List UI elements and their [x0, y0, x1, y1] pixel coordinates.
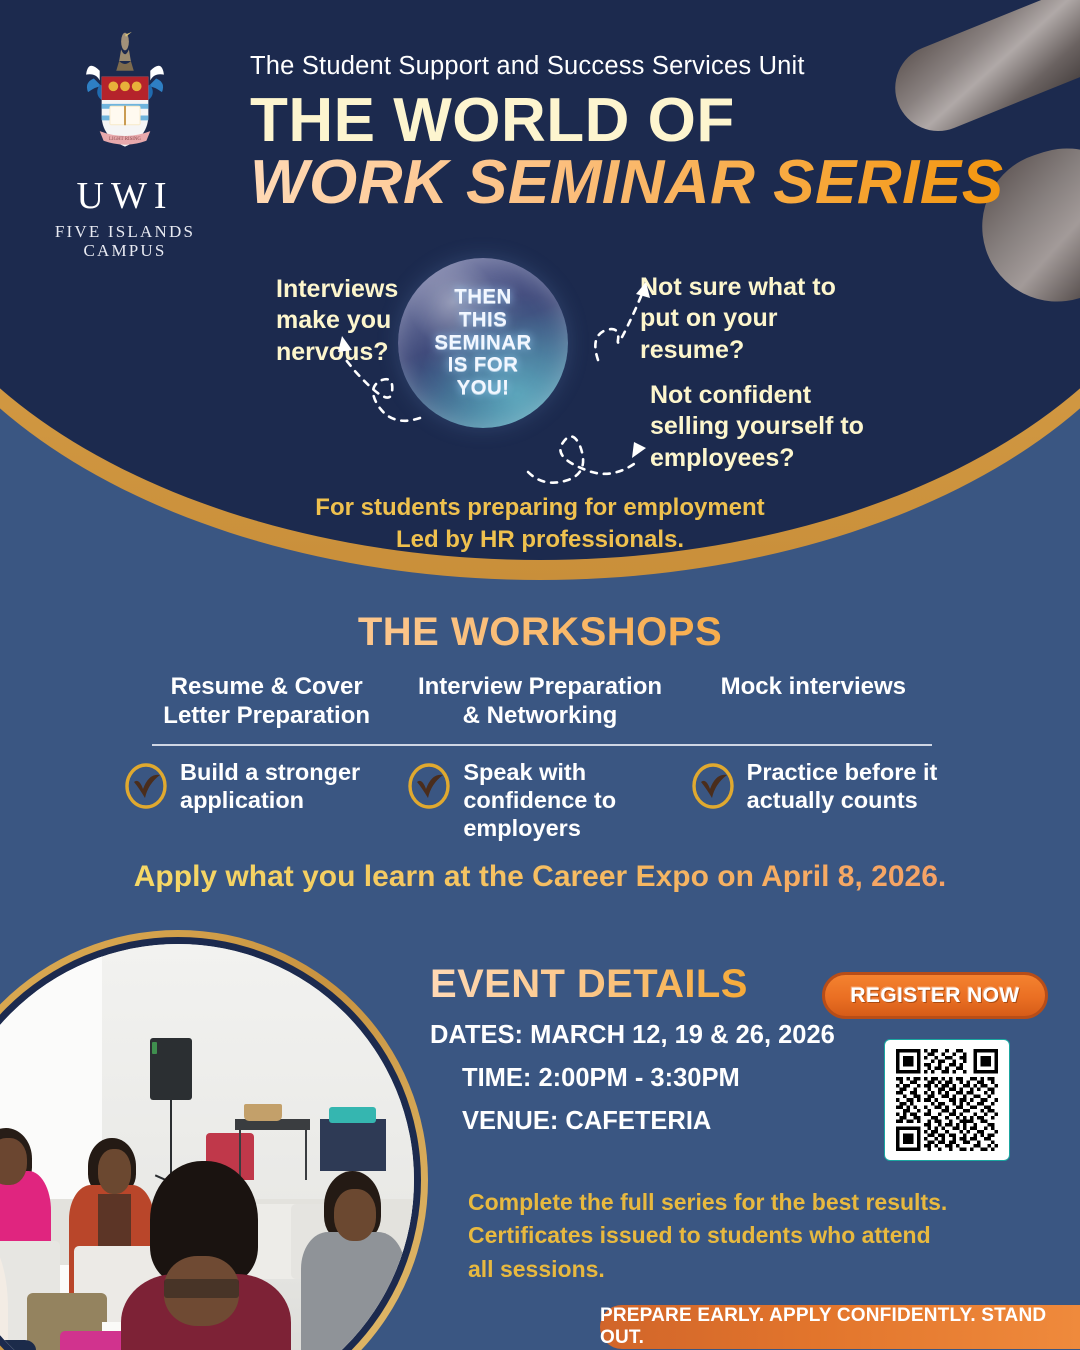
event-details-heading: EVENT DETAILS — [430, 962, 860, 1007]
campus-name: FIVE ISLANDS CAMPUS — [55, 222, 195, 260]
event-time: TIME: 2:00PM - 3:30PM — [430, 1064, 860, 1093]
campus-line-1: FIVE ISLANDS — [55, 222, 195, 241]
questions-zone: Interviews make you nervous? Not sure wh… — [0, 258, 1080, 478]
workshop-benefit-item: Build a stronger application — [122, 758, 405, 843]
seminar-photo-frame — [0, 930, 428, 1350]
workshop-benefit-item: Speak with confidence to employers — [405, 758, 688, 843]
question-resume: Not sure what to put on your resume? — [640, 272, 870, 366]
uwi-acronym: UWI — [77, 174, 174, 218]
dashed-arrow-icon — [522, 386, 662, 486]
svg-text:LIGHT RISING: LIGHT RISING — [109, 137, 141, 142]
certificate-line-2: Certificates issued to students who atte… — [468, 1219, 1028, 1252]
qr-code-icon — [894, 1049, 1000, 1151]
certificate-line-3: all sessions. — [468, 1253, 1028, 1286]
workshops-divider — [152, 744, 932, 746]
poster-root: LIGHT RISING UWI FIVE ISLANDS CAMPUS The… — [0, 0, 1080, 1350]
benefit-text: Practice before it actually counts — [747, 758, 966, 814]
workshop-title: Mock interviews — [677, 672, 950, 731]
workshop-title: Interview Preparation & Networking — [403, 672, 676, 731]
title-block: The Student Support and Success Services… — [250, 0, 1004, 260]
register-now-label: REGISTER NOW — [850, 984, 1019, 1008]
register-now-button[interactable]: REGISTER NOW — [822, 972, 1048, 1019]
certificate-line-1: Complete the full series for the best re… — [468, 1186, 1028, 1219]
uwi-coat-of-arms-icon: LIGHT RISING — [69, 26, 181, 172]
dashed-arrow-icon — [584, 278, 664, 364]
poster-title-line-1: THE WORLD OF — [250, 89, 1004, 153]
poster-title-line-2: WORK SEMINAR SERIES — [250, 151, 1004, 215]
uwi-logo-block: LIGHT RISING UWI FIVE ISLANDS CAMPUS — [0, 0, 250, 260]
check-circle-icon — [689, 762, 737, 810]
check-circle-icon — [405, 762, 453, 810]
certificate-note: Complete the full series for the best re… — [468, 1186, 1028, 1286]
bubble-text: THEN THIS SEMINAR IS FOR YOU! — [434, 286, 531, 401]
tagline-ribbon: PREPARE EARLY. APPLY CONFIDENTLY. STAND … — [600, 1305, 1080, 1349]
poster-header: LIGHT RISING UWI FIVE ISLANDS CAMPUS The… — [0, 0, 1080, 260]
workshop-benefit-item: Practice before it actually counts — [689, 758, 972, 843]
audience-line-1: For students preparing for employment — [0, 492, 1080, 524]
registration-qr-code[interactable] — [884, 1039, 1010, 1161]
dashed-arrow-icon — [320, 308, 440, 428]
workshop-title: Resume & Cover Letter Preparation — [130, 672, 403, 731]
workshops-benefits: Build a stronger application Speak with … — [122, 758, 972, 843]
question-selling-yourself: Not confident selling yourself to employ… — [650, 380, 890, 474]
event-venue: VENUE: CAFETERIA — [430, 1107, 860, 1136]
career-expo-note: Apply what you learn at the Career Expo … — [0, 860, 1080, 894]
seminar-photo — [0, 944, 414, 1350]
event-dates: DATES: MARCH 12, 19 & 26, 2026 — [430, 1021, 860, 1050]
audience-line-2: Led by HR professionals. — [0, 524, 1080, 556]
benefit-text: Speak with confidence to employers — [463, 758, 682, 843]
audience-note: For students preparing for employment Le… — [0, 492, 1080, 556]
workshops-titles: Resume & Cover Letter Preparation Interv… — [130, 672, 950, 731]
benefit-text: Build a stronger application — [180, 758, 399, 814]
check-circle-icon — [122, 762, 170, 810]
tagline-text: PREPARE EARLY. APPLY CONFIDENTLY. STAND … — [600, 1305, 1080, 1349]
unit-name: The Student Support and Success Services… — [250, 52, 1004, 81]
event-details: EVENT DETAILS DATES: MARCH 12, 19 & 26, … — [430, 962, 860, 1136]
workshops-heading: THE WORKSHOPS — [0, 610, 1080, 655]
